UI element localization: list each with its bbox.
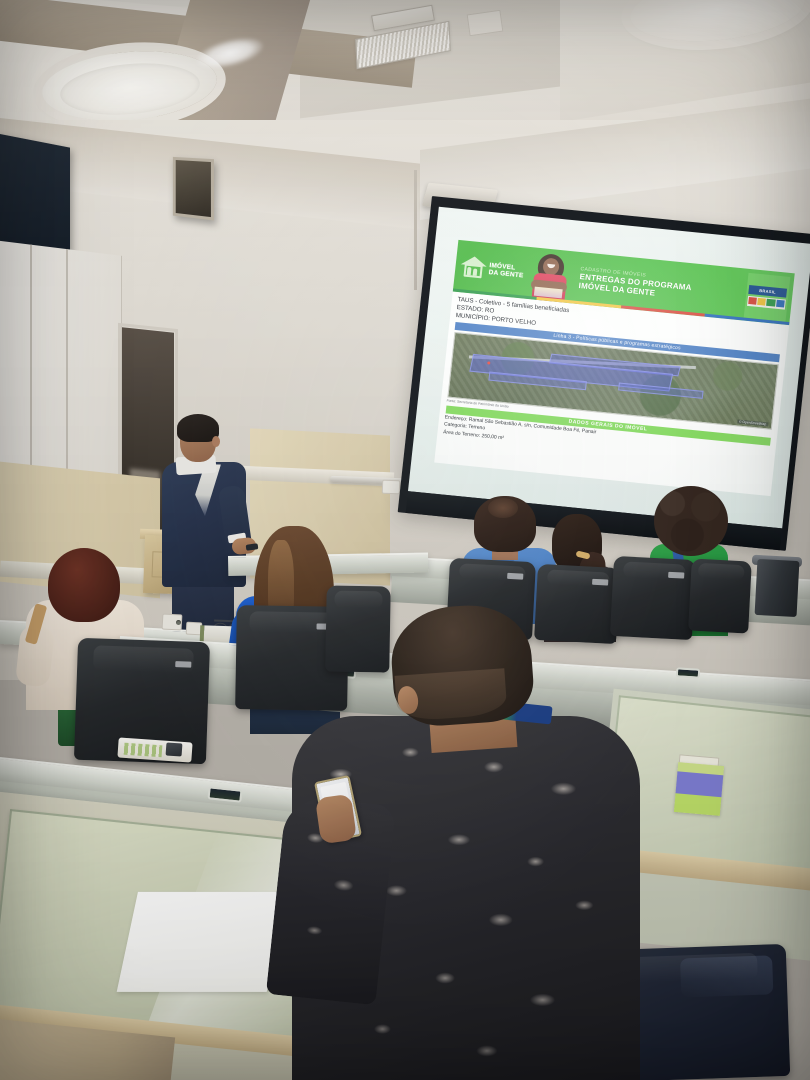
chair (610, 556, 696, 640)
colored-folder (674, 762, 724, 816)
screen-surface: IMÓVEL DA GENTE CADASTRO DE IMÓVEIS ENTR… (408, 207, 810, 529)
cable-grommet (676, 667, 701, 678)
wall-speaker-icon (173, 157, 214, 221)
presentation-slide: IMÓVEL DA GENTE CADASTRO DE IMÓVEIS ENTR… (434, 240, 795, 495)
waste-bin (755, 559, 800, 617)
auburn-hair (48, 548, 120, 622)
government-logo-block: BRASIL (744, 272, 791, 321)
paper-sheet (117, 892, 288, 992)
auditorium-presentation-photo: IMÓVEL DA GENTE CADASTRO DE IMÓVEIS ENTR… (0, 0, 810, 1080)
banner-title-block: CADASTRO DE IMÓVEIS ENTREGAS DO PROGRAMA… (578, 266, 747, 307)
wall-outlet (382, 480, 400, 495)
projection-screen: IMÓVEL DA GENTE CADASTRO DE IMÓVEIS ENTR… (398, 196, 810, 551)
wall-corner (414, 170, 417, 290)
curly-hair (654, 486, 728, 556)
map-watermark: © OpenStreetMap (737, 419, 769, 426)
chair (688, 558, 752, 633)
ceiling-access-panel (467, 10, 504, 37)
hand (315, 794, 357, 845)
remote-keypad (124, 743, 163, 758)
chair (325, 585, 390, 672)
desk-screw (176, 620, 181, 625)
program-logo-text: IMÓVEL DA GENTE (488, 262, 524, 279)
gov-logo-strip (747, 295, 786, 309)
presenter-ear (212, 436, 220, 447)
house-logo-icon (459, 255, 487, 279)
chair (534, 564, 620, 644)
banner-person-photo (525, 247, 574, 302)
scalp-highlight (488, 498, 518, 518)
remote-display (166, 742, 183, 756)
